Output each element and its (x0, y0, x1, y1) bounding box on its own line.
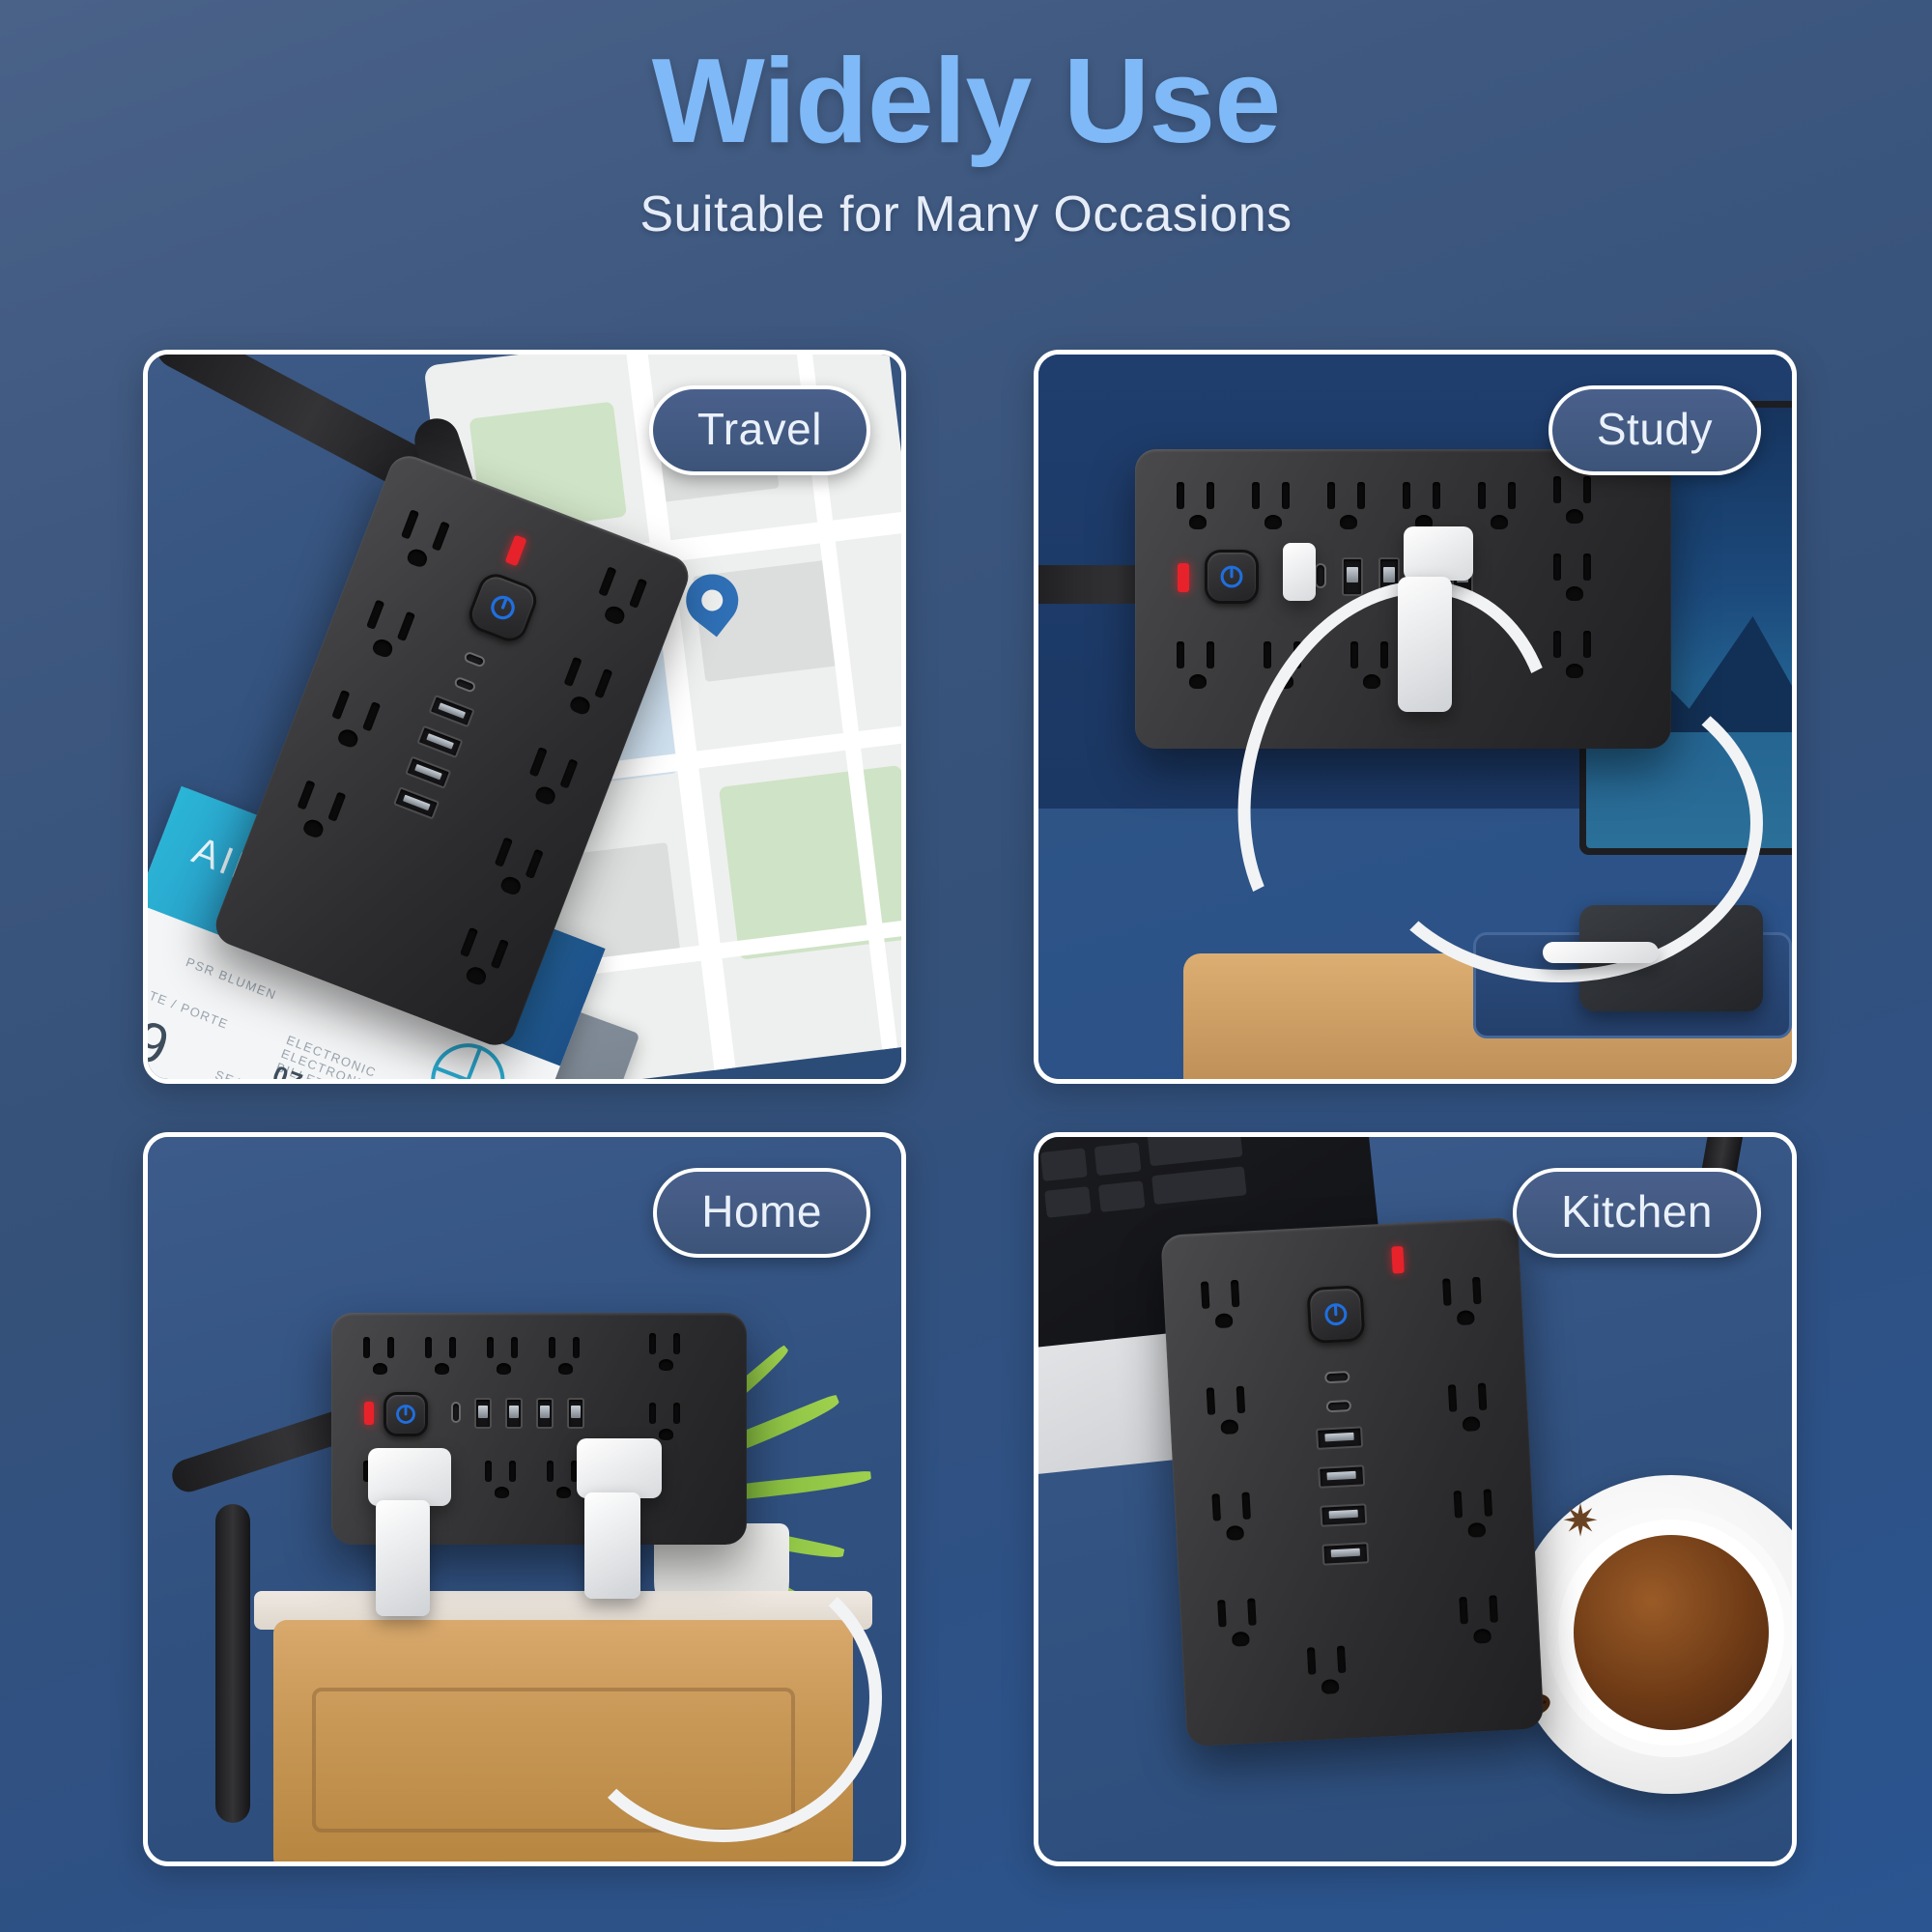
coffee-surface (1574, 1535, 1769, 1730)
saucer (1512, 1475, 1797, 1794)
usb-a-port-4 (393, 786, 440, 819)
header: Widely Use Suitable for Many Occasions (0, 39, 1932, 243)
badge-travel: Travel (649, 385, 870, 475)
usb-a-port-2 (505, 1398, 523, 1429)
power-button[interactable] (384, 1392, 428, 1436)
white-cable-home (563, 1552, 882, 1842)
usb-a-port-1 (474, 1398, 492, 1429)
power-icon (1218, 563, 1245, 590)
indicator-led-icon (1391, 1246, 1404, 1274)
power-strip-kitchen (1160, 1217, 1544, 1747)
page-title: Widely Use (0, 39, 1932, 164)
indicator-led-icon (364, 1402, 374, 1425)
usb-a-port-3 (536, 1398, 554, 1429)
power-icon (394, 1403, 417, 1426)
usb-c-port (451, 1402, 461, 1423)
power-button[interactable] (1205, 550, 1259, 604)
white-plug (1404, 526, 1473, 581)
infographic-page: Widely Use Suitable for Many Occasions (0, 0, 1932, 1932)
badge-study: Study (1548, 385, 1761, 475)
white-plug-2 (577, 1438, 662, 1498)
power-cord-home-2 (215, 1504, 250, 1823)
panel-kitchen[interactable]: ✷ (1034, 1132, 1797, 1866)
usb-c-port (463, 651, 486, 668)
usb-a-port-1 (428, 695, 474, 727)
white-cable-2 (1357, 664, 1763, 982)
usb-c-port (1324, 1371, 1350, 1383)
usb-a-port-3 (405, 755, 451, 788)
usb-c-port-2 (453, 676, 476, 694)
white-plug-1 (368, 1448, 451, 1506)
power-button[interactable] (464, 569, 541, 646)
usb-c-port-2 (1326, 1400, 1352, 1412)
usb-cable-head (1283, 543, 1316, 601)
white-plug-1-body (376, 1500, 430, 1616)
power-button[interactable] (1306, 1285, 1365, 1344)
badge-home: Home (653, 1168, 870, 1258)
use-case-grid: 07 AUGUST 12 685 FLIGHT DEP AIR TICKET P… (143, 350, 1797, 1866)
star-anise-icon: ✷ (1558, 1498, 1603, 1543)
indicator-led-icon (505, 535, 527, 567)
usb-a-port-4 (567, 1398, 584, 1429)
panel-travel[interactable]: 07 AUGUST 12 685 FLIGHT DEP AIR TICKET P… (143, 350, 906, 1084)
usb-a-port-3 (1320, 1503, 1367, 1526)
usb-a-port-1 (1342, 557, 1363, 596)
power-icon (1321, 1300, 1350, 1328)
badge-kitchen: Kitchen (1513, 1168, 1761, 1258)
usb-a-port-4 (1321, 1542, 1369, 1565)
panel-home[interactable]: Home (143, 1132, 906, 1866)
phone-connector (1543, 942, 1659, 963)
page-subtitle: Suitable for Many Occasions (0, 185, 1932, 243)
panel-study[interactable]: Study (1034, 350, 1797, 1084)
power-icon (484, 589, 522, 627)
usb-a-port-1 (1316, 1426, 1363, 1449)
usb-a-port-2 (416, 725, 463, 758)
usb-c-port (1315, 563, 1326, 588)
indicator-led-icon (1178, 563, 1189, 592)
usb-a-port-2 (1318, 1464, 1365, 1488)
passenger-label: PSR BLUMEN (184, 954, 278, 1003)
